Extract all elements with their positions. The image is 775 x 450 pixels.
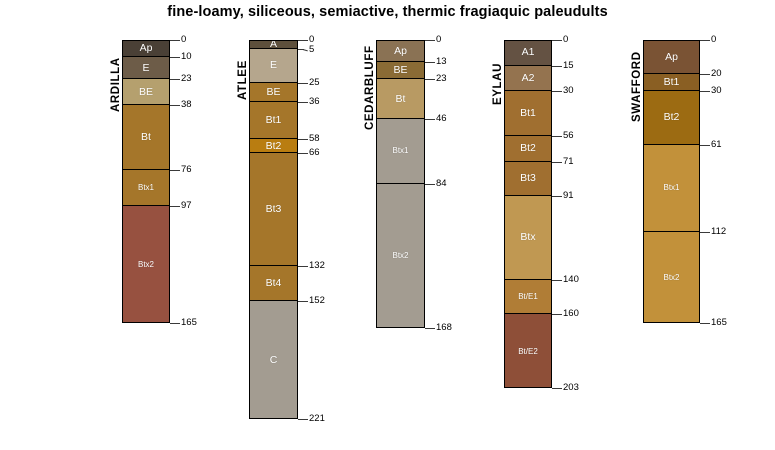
- depth-tick-label: 140: [563, 275, 579, 285]
- horizon-layer[interactable]: Bt3: [250, 153, 297, 266]
- horizon-label: Bt/E2: [518, 347, 538, 356]
- depth-tick-label: 15: [563, 61, 574, 71]
- horizon-layer[interactable]: Bt: [377, 79, 424, 118]
- depth-tick-leader: [430, 40, 435, 41]
- horizon-label: Btx1: [138, 183, 154, 192]
- horizon-layer[interactable]: Btx2: [123, 206, 169, 323]
- horizon-label: E: [142, 62, 149, 74]
- depth-tick-leader: [175, 40, 180, 41]
- horizon-label: Btx2: [138, 260, 154, 269]
- depth-tick-label: 165: [711, 318, 727, 328]
- depth-tick-label: 56: [563, 131, 574, 141]
- depth-tick-label: 46: [436, 114, 447, 124]
- horizon-layer[interactable]: BE: [123, 79, 169, 105]
- depth-tick-leader: [705, 91, 710, 92]
- depth-tick-label: 25: [309, 78, 320, 88]
- depth-tick-label: 5: [309, 45, 314, 55]
- depth-tick-leader: [175, 323, 180, 324]
- depth-tick-label: 203: [563, 383, 579, 393]
- depth-tick-leader: [175, 105, 180, 106]
- depth-tick-label: 0: [563, 35, 568, 45]
- depth-tick-leader: [175, 79, 180, 80]
- depth-tick-leader: [557, 280, 562, 281]
- horizon-layer[interactable]: Bt1: [250, 102, 297, 140]
- horizon-layer[interactable]: Btx1: [644, 145, 699, 232]
- horizon-layer[interactable]: Bt2: [250, 139, 297, 153]
- horizon-label: Bt1: [266, 114, 282, 126]
- soil-profile-chart: ARDILLAApEBEBtBtx1Btx201023387697165ATLE…: [0, 0, 775, 450]
- horizon-label: A1: [522, 46, 535, 58]
- depth-tick-label: 152: [309, 296, 325, 306]
- depth-tick-leader: [557, 314, 562, 315]
- depth-tick-leader: [303, 83, 308, 84]
- horizon-layer[interactable]: BE: [250, 83, 297, 102]
- horizon-label: Btx2: [392, 251, 408, 260]
- depth-tick-leader: [557, 136, 562, 137]
- profile-column[interactable]: ApEBEBtBtx1Btx2: [122, 40, 170, 323]
- depth-tick-leader: [175, 170, 180, 171]
- depth-tick-label: 36: [309, 97, 320, 107]
- horizon-layer[interactable]: Ap: [123, 40, 169, 57]
- horizon-label: Btx1: [663, 183, 679, 192]
- depth-tick-label: 97: [181, 201, 192, 211]
- horizon-label: Bt1: [520, 107, 536, 119]
- depth-tick-leader: [303, 40, 308, 41]
- horizon-label: A2: [522, 72, 535, 84]
- horizon-label: Bt: [141, 131, 151, 143]
- horizon-layer[interactable]: Bt/E2: [505, 314, 551, 388]
- depth-tick-leader: [303, 153, 308, 154]
- profile-column[interactable]: ApBt1Bt2Btx1Btx2: [643, 40, 700, 323]
- depth-tick-leader: [303, 49, 308, 51]
- depth-tick-label: 13: [436, 57, 447, 67]
- horizon-label: Bt3: [520, 172, 536, 184]
- depth-tick-label: 168: [436, 323, 452, 333]
- horizon-layer[interactable]: Bt1: [644, 74, 699, 91]
- depth-tick-leader: [430, 62, 435, 63]
- horizon-label: BE: [266, 86, 280, 98]
- horizon-layer[interactable]: Btx1: [377, 119, 424, 184]
- depth-tick-label: 30: [563, 86, 574, 96]
- depth-tick-leader: [557, 196, 562, 197]
- depth-tick-label: 112: [711, 227, 726, 237]
- horizon-layer[interactable]: C: [250, 301, 297, 419]
- depth-tick-label: 23: [436, 74, 447, 84]
- depth-tick-leader: [705, 40, 710, 41]
- horizon-label: Btx: [520, 231, 535, 243]
- horizon-label: Ap: [140, 42, 153, 54]
- profile-name-label: CEDARBLUFF: [364, 45, 376, 130]
- depth-tick-leader: [557, 388, 562, 389]
- depth-tick-label: 91: [563, 191, 574, 201]
- depth-tick-label: 132: [309, 261, 325, 271]
- horizon-layer[interactable]: Bt2: [644, 91, 699, 144]
- depth-tick-label: 71: [563, 157, 574, 167]
- horizon-layer[interactable]: Bt4: [250, 266, 297, 300]
- depth-tick-leader: [303, 266, 308, 267]
- depth-tick-label: 61: [711, 140, 722, 150]
- horizon-layer[interactable]: Ap: [377, 40, 424, 62]
- profile-column[interactable]: ApBEBtBtx1Btx2: [376, 40, 425, 328]
- horizon-label: Bt: [396, 93, 406, 105]
- depth-tick-leader: [303, 139, 308, 140]
- depth-tick-leader: [430, 328, 435, 329]
- profile-name-label: SWAFFORD: [631, 51, 643, 122]
- depth-tick-leader: [430, 184, 435, 185]
- horizon-layer[interactable]: Btx: [505, 196, 551, 280]
- horizon-layer[interactable]: Bt1: [505, 91, 551, 136]
- horizon-layer[interactable]: E: [123, 57, 169, 79]
- profile-name-label: EYLAU: [492, 63, 504, 105]
- horizon-label: C: [270, 354, 278, 366]
- depth-tick-label: 160: [563, 309, 579, 319]
- horizon-label: Bt2: [520, 142, 536, 154]
- horizon-layer[interactable]: Ap: [644, 40, 699, 74]
- depth-tick-label: 0: [436, 35, 441, 45]
- horizon-layer[interactable]: Bt2: [505, 136, 551, 162]
- depth-tick-leader: [175, 206, 180, 207]
- depth-tick-leader: [705, 74, 710, 75]
- horizon-layer[interactable]: BE: [377, 62, 424, 79]
- horizon-layer[interactable]: A: [250, 40, 297, 49]
- horizon-layer[interactable]: E: [250, 49, 297, 83]
- profile-name-label: ARDILLA: [110, 57, 122, 112]
- depth-tick-leader: [557, 91, 562, 92]
- horizon-label: BE: [393, 64, 407, 76]
- profile-column[interactable]: AEBEBt1Bt2Bt3Bt4C: [249, 40, 298, 419]
- depth-tick-leader: [430, 79, 435, 80]
- horizon-label: Btx2: [663, 273, 679, 282]
- depth-tick-leader: [303, 301, 308, 302]
- horizon-layer[interactable]: Btx2: [377, 184, 424, 328]
- horizon-label: Bt1: [664, 76, 680, 88]
- depth-tick-leader: [175, 57, 180, 58]
- horizon-label: BE: [139, 86, 153, 98]
- horizon-label: Ap: [394, 45, 407, 57]
- depth-tick-leader: [705, 232, 710, 233]
- horizon-layer[interactable]: Bt3: [505, 162, 551, 196]
- depth-tick-label: 23: [181, 74, 192, 84]
- depth-tick-leader: [430, 119, 435, 120]
- profile-column[interactable]: A1A2Bt1Bt2Bt3BtxBt/E1Bt/E2: [504, 40, 552, 388]
- depth-tick-label: 10: [181, 52, 192, 62]
- depth-tick-leader: [705, 323, 710, 324]
- horizon-label: Bt2: [664, 111, 680, 123]
- profile-name-label: ATLEE: [237, 60, 249, 100]
- horizon-layer[interactable]: Btx2: [644, 232, 699, 323]
- depth-tick-leader: [705, 145, 710, 146]
- horizon-label: Bt4: [266, 277, 282, 289]
- horizon-layer[interactable]: Bt/E1: [505, 280, 551, 314]
- horizon-label: E: [270, 59, 277, 71]
- depth-tick-label: 0: [711, 35, 716, 45]
- depth-tick-label: 221: [309, 414, 325, 424]
- horizon-label: Bt2: [266, 140, 282, 152]
- depth-tick-label: 58: [309, 134, 320, 144]
- depth-tick-label: 84: [436, 179, 447, 189]
- horizon-layer[interactable]: A1: [505, 40, 551, 66]
- horizon-layer[interactable]: A2: [505, 66, 551, 92]
- horizon-label: Btx1: [392, 146, 408, 155]
- horizon-label: Bt3: [266, 203, 282, 215]
- depth-tick-leader: [303, 419, 308, 420]
- depth-tick-leader: [557, 162, 562, 163]
- horizon-label: Ap: [665, 51, 678, 63]
- depth-tick-label: 66: [309, 148, 320, 158]
- depth-tick-label: 76: [181, 165, 192, 175]
- depth-tick-label: 38: [181, 100, 192, 110]
- depth-tick-label: 0: [181, 35, 186, 45]
- horizon-layer[interactable]: Btx1: [123, 170, 169, 206]
- depth-tick-label: 30: [711, 86, 722, 96]
- depth-tick-leader: [303, 102, 308, 103]
- depth-tick-leader: [557, 40, 562, 41]
- depth-tick-label: 165: [181, 318, 197, 328]
- depth-tick-leader: [557, 66, 562, 67]
- depth-tick-label: 20: [711, 69, 722, 79]
- horizon-layer[interactable]: Bt: [123, 105, 169, 170]
- horizon-label: Bt/E1: [518, 292, 538, 301]
